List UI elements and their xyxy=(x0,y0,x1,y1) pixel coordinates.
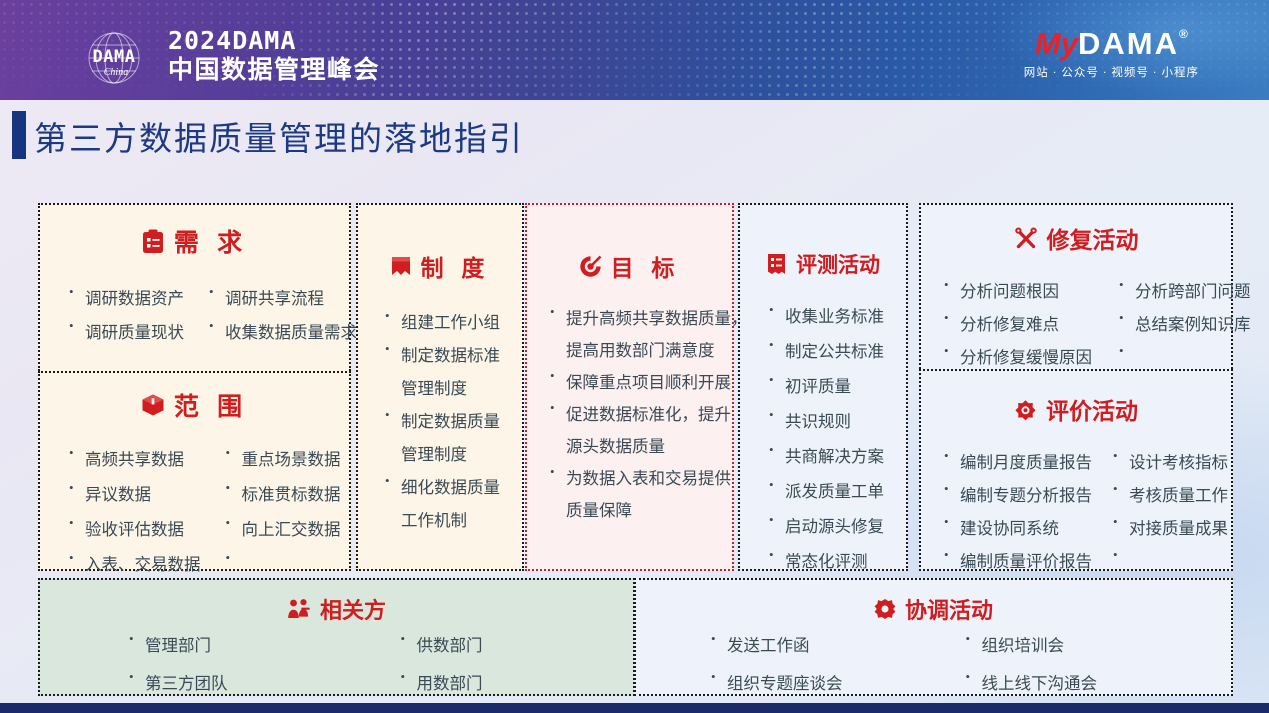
document-list-icon xyxy=(766,253,787,275)
footer-band xyxy=(0,703,1269,713)
page-title: 第三方数据质量管理的落地指引 xyxy=(34,112,524,160)
list-item: 启动源头修复 xyxy=(766,513,884,537)
list-item: 派发质量工单 xyxy=(766,478,884,502)
list-item: 常态化评测 xyxy=(766,548,884,572)
card-system-title-text: 制 度 xyxy=(421,249,491,283)
list-item: 保障重点项目顺利开展 xyxy=(547,369,748,393)
card-appraisal: 评价活动 编制月度质量报告 设计考核指标 编制专题分析报告 考核质量工作 建设协… xyxy=(919,369,1233,571)
list-item-continuation: 提高用数部门满意度 xyxy=(547,337,748,361)
card-system-title: 制 度 xyxy=(358,205,522,283)
list-item: 标准贯标数据 xyxy=(223,481,341,505)
mydama-my-text: My xyxy=(1035,26,1078,61)
list-item: 分析问题根因 xyxy=(941,278,1092,302)
list-item: 调研数据资产 xyxy=(66,285,184,309)
mydama-dama-text: DAMA xyxy=(1078,26,1179,61)
summit-title: 2024DAMA 中国数据管理峰会 xyxy=(168,28,380,83)
list-item: 线上线下沟通会 xyxy=(963,670,1098,694)
list-item: 对接质量成果 xyxy=(1110,515,1228,539)
summit-title-line2: 中国数据管理峰会 xyxy=(168,58,380,83)
card-evaluation-list: 收集业务标准 制定公共标准 初评质量 共识规则 共商解决方案 派发质量工单 启动… xyxy=(766,303,884,618)
list-item-empty xyxy=(1110,548,1228,572)
dama-china-globe-icon: DAMA China xyxy=(72,32,156,84)
list-item: 建设协同系统 xyxy=(941,515,1092,539)
list-item: 制定数据质量 xyxy=(382,408,500,432)
card-scope-list: 高频共享数据 重点场景数据 异议数据 标准贯标数据 验收评估数据 向上汇交数据 … xyxy=(66,446,341,575)
list-item: 发送工作函 xyxy=(708,632,843,656)
list-item: 编制月度质量报告 xyxy=(941,449,1092,473)
summit-title-line1: 2024DAMA xyxy=(168,28,380,53)
list-item-continuation: 管理制度 xyxy=(382,375,500,399)
list-item: 分析修复难点 xyxy=(941,311,1092,335)
card-stakeholders-list: 管理部门 供数部门 第三方团队 用数部门 xyxy=(126,632,483,694)
card-appraisal-list: 编制月度质量报告 设计考核指标 编制专题分析报告 考核质量工作 建设协同系统 对… xyxy=(941,449,1228,572)
card-goal-list: 提升高频共享数据质量， 提高用数部门满意度 保障重点项目顺利开展 促进数据标准化… xyxy=(547,305,748,529)
list-item: 调研质量现状 xyxy=(66,319,184,343)
card-stakeholders-title: 相关方 xyxy=(40,580,633,625)
list-item: 考核质量工作 xyxy=(1110,482,1228,506)
list-item: 调研共享流程 xyxy=(206,285,357,309)
list-item-continuation: 质量保障 xyxy=(547,497,748,521)
title-accent-bar xyxy=(12,111,26,159)
tools-icon xyxy=(1014,227,1038,250)
list-item: 提升高频共享数据质量， xyxy=(547,305,748,329)
mydama-wordmark: MyDAMA® xyxy=(1024,28,1199,59)
card-repair-title: 修复活动 xyxy=(921,205,1231,255)
list-item-continuation: 管理制度 xyxy=(382,441,500,465)
card-coordination-title-text: 协调活动 xyxy=(905,593,993,625)
card-stakeholders: 相关方 管理部门 供数部门 第三方团队 用数部门 xyxy=(38,578,635,696)
list-item: 验收评估数据 xyxy=(66,516,201,540)
card-scope: 范 围 高频共享数据 重点场景数据 异议数据 标准贯标数据 验收评估数据 向上汇… xyxy=(38,371,351,571)
award-rosette-icon xyxy=(1014,398,1037,421)
card-appraisal-title: 评价活动 xyxy=(921,371,1231,426)
list-item: 初评质量 xyxy=(766,373,884,397)
list-item: 分析跨部门问题 xyxy=(1116,278,1251,302)
card-evaluation: 评测活动 收集业务标准 制定公共标准 初评质量 共识规则 共商解决方案 派发质量… xyxy=(738,203,908,571)
card-goal-title: 目 标 xyxy=(527,205,732,283)
box-icon xyxy=(141,393,165,417)
card-requirement-title: 需 求 xyxy=(40,205,349,259)
list-item: 编制质量评价报告 xyxy=(941,548,1092,572)
list-item: 重点场景数据 xyxy=(223,446,341,470)
list-item: 制定数据标准 xyxy=(382,342,500,366)
list-item: 分析修复缓慢原因 xyxy=(941,344,1092,368)
list-item: 组织专题座谈会 xyxy=(708,670,843,694)
list-item: 促进数据标准化，提升 xyxy=(547,401,748,425)
card-system-list: 组建工作小组 制定数据标准 管理制度 制定数据质量 管理制度 细化数据质量 工作… xyxy=(382,309,500,540)
list-item-continuation: 源头数据质量 xyxy=(547,433,748,457)
card-evaluation-title: 评测活动 xyxy=(740,205,906,279)
registered-trademark-icon: ® xyxy=(1179,27,1188,41)
users-icon xyxy=(287,598,311,620)
card-requirement-title-text: 需 求 xyxy=(174,223,248,259)
card-coordination-title: 协调活动 xyxy=(636,580,1231,625)
card-goal-title-text: 目 标 xyxy=(611,249,681,283)
svg-text:China: China xyxy=(104,67,128,78)
list-item: 组建工作小组 xyxy=(382,309,500,333)
mydama-logo: MyDAMA® 网站 · 公众号 · 视频号 · 小程序 xyxy=(1024,28,1199,80)
card-stakeholders-title-text: 相关方 xyxy=(320,593,386,625)
target-icon xyxy=(579,255,602,278)
card-goal: 目 标 提升高频共享数据质量， 提高用数部门满意度 保障重点项目顺利开展 促进数… xyxy=(525,203,734,571)
header-banner: DAMA China 2024DAMA 中国数据管理峰会 MyDAMA® 网站 … xyxy=(0,0,1269,100)
list-item: 管理部门 xyxy=(126,632,228,656)
list-item: 收集业务标准 xyxy=(766,303,884,327)
card-repair-title-text: 修复活动 xyxy=(1047,221,1139,255)
list-item: 共识规则 xyxy=(766,408,884,432)
list-item: 第三方团队 xyxy=(126,670,228,694)
list-item-empty xyxy=(223,551,341,575)
card-repair-list: 分析问题根因 分析跨部门问题 分析修复难点 总结案例知识库 分析修复缓慢原因 xyxy=(941,278,1251,368)
card-repair: 修复活动 分析问题根因 分析跨部门问题 分析修复难点 总结案例知识库 分析修复缓… xyxy=(919,203,1233,369)
svg-text:DAMA: DAMA xyxy=(93,47,136,67)
card-coordination: 协调活动 发送工作函 组织培训会 组织专题座谈会 线上线下沟通会 xyxy=(634,578,1233,696)
list-item: 供数部门 xyxy=(398,632,483,656)
list-item-empty xyxy=(1116,344,1251,368)
card-coordination-list: 发送工作函 组织培训会 组织专题座谈会 线上线下沟通会 xyxy=(708,632,1097,694)
card-requirement-list: 调研数据资产 调研共享流程 调研质量现状 收集数据质量需求 xyxy=(66,285,357,343)
card-scope-title: 范 围 xyxy=(40,373,349,423)
list-item: 共商解决方案 xyxy=(766,443,884,467)
list-item: 入表、交易数据 xyxy=(66,551,201,575)
list-item: 向上汇交数据 xyxy=(223,516,341,540)
list-item-continuation: 工作机制 xyxy=(382,507,500,531)
list-item: 编制专题分析报告 xyxy=(941,482,1092,506)
list-item: 细化数据质量 xyxy=(382,474,500,498)
list-item: 组织培训会 xyxy=(963,632,1098,656)
card-appraisal-title-text: 评价活动 xyxy=(1046,392,1138,426)
card-requirement: 需 求 调研数据资产 调研共享流程 调研质量现状 收集数据质量需求 xyxy=(38,203,351,371)
list-item: 异议数据 xyxy=(66,481,201,505)
card-system: 制 度 组建工作小组 制定数据标准 管理制度 制定数据质量 管理制度 细化数据质… xyxy=(356,203,524,571)
mydama-channels-label: 网站 · 公众号 · 视频号 · 小程序 xyxy=(1024,64,1199,80)
book-icon xyxy=(390,255,412,277)
list-item: 制定公共标准 xyxy=(766,338,884,362)
gear-icon xyxy=(874,598,896,620)
list-item: 用数部门 xyxy=(398,670,483,694)
list-item: 总结案例知识库 xyxy=(1116,311,1251,335)
card-evaluation-title-text: 评测活动 xyxy=(796,249,880,279)
clipboard-check-icon xyxy=(141,229,165,254)
list-item: 高频共享数据 xyxy=(66,446,201,470)
list-item: 收集数据质量需求 xyxy=(206,319,357,343)
list-item: 为数据入表和交易提供 xyxy=(547,465,748,489)
list-item: 设计考核指标 xyxy=(1110,449,1228,473)
card-scope-title-text: 范 围 xyxy=(174,387,248,423)
